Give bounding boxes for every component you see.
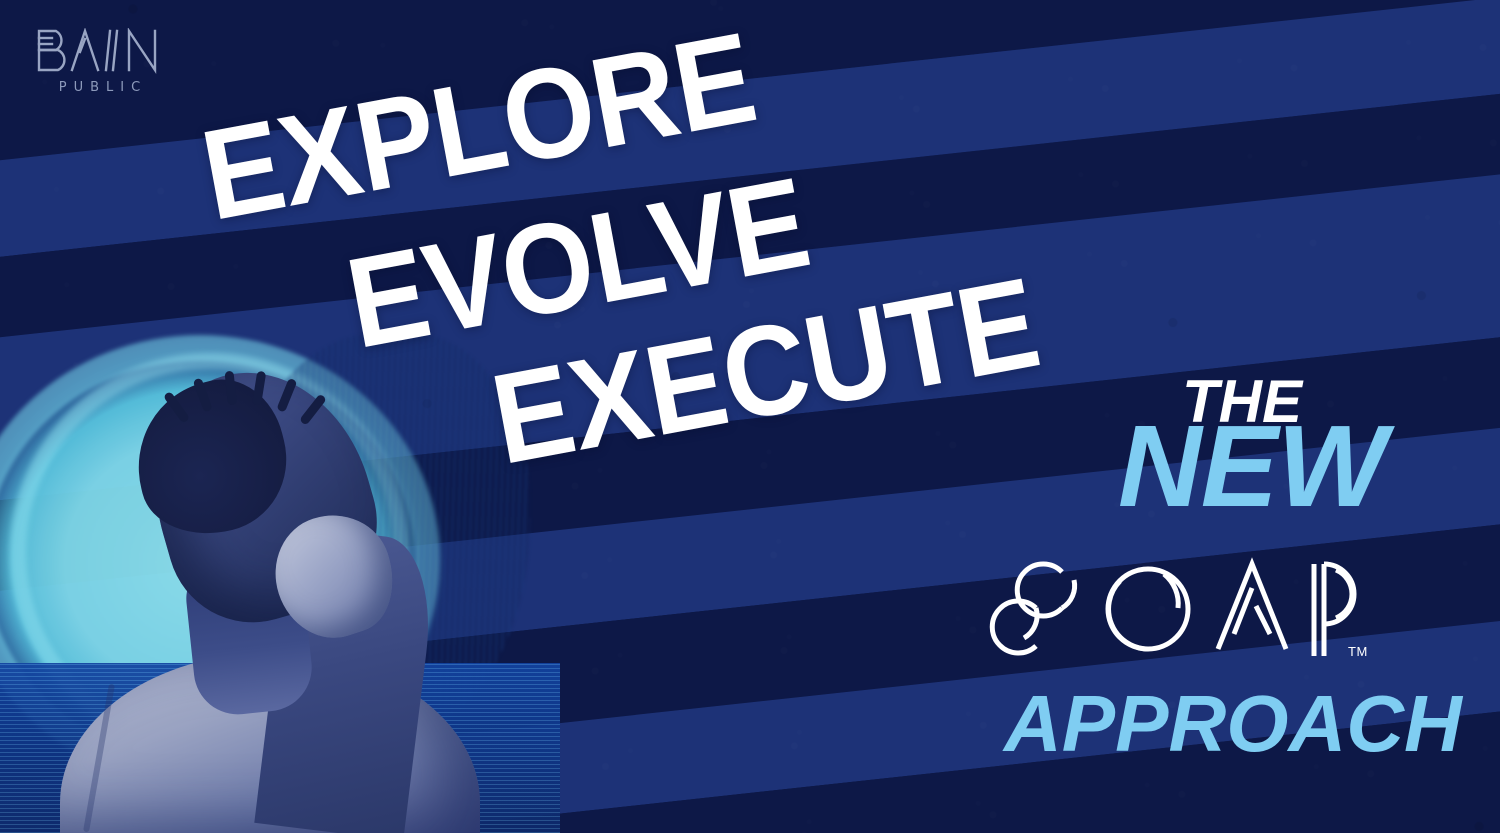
- lockup-new: NEW: [1118, 408, 1386, 524]
- person-hair-locks: [178, 369, 338, 429]
- hero-photo: [0, 313, 560, 833]
- soap-logo-icon: [1002, 550, 1392, 670]
- bain-wordmark-icon: [36, 28, 170, 74]
- person-silhouette: [60, 363, 480, 833]
- promo-banner: PUBLIC EXPLORE EVOLVE EXECUTE THE NEW: [0, 0, 1500, 833]
- trademark-symbol: TM: [1348, 644, 1368, 659]
- logo-subtitle: PUBLIC: [36, 80, 170, 95]
- bain-public-logo[interactable]: PUBLIC: [36, 28, 170, 95]
- lockup-approach: APPROACH: [1004, 684, 1462, 764]
